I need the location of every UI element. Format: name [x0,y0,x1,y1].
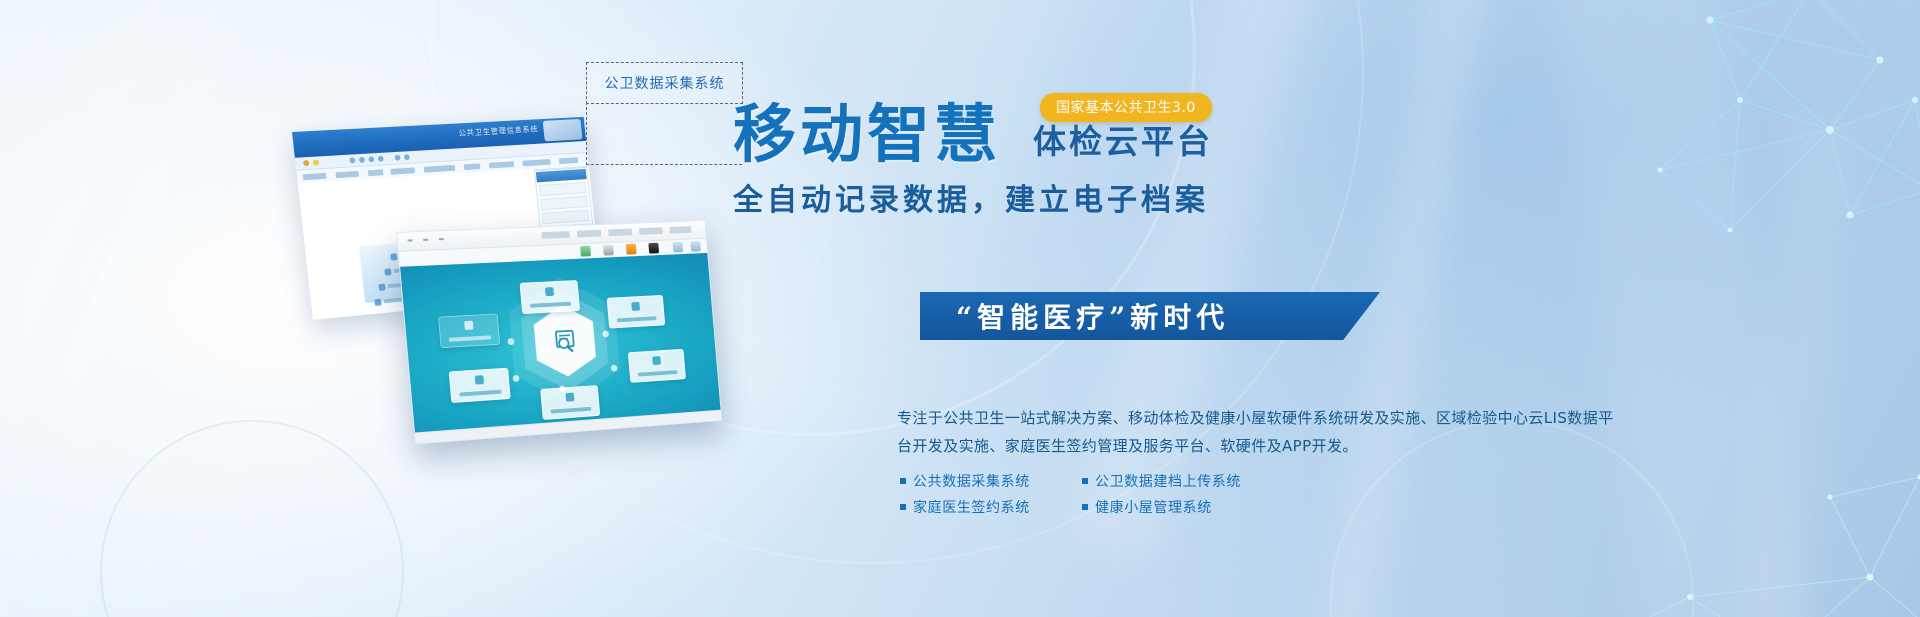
callout-box: 公卫数据采集系统 [586,62,743,104]
ribbon-banner: “智能医疗”新时代 [920,292,1380,340]
bullet-icon [1082,478,1088,484]
product-screenshots: 公共卫生管理信息系统 [270,120,740,460]
headline-block: 移动智慧 体检云平台 国家基本公共卫生3.0 全自动记录数据，建立电子档案 [733,108,1533,220]
search-document-icon [551,327,579,356]
banner-stage: 公共卫生管理信息系统 [0,0,1920,617]
bullet-icon [900,478,906,484]
headline-secondary: 体检云平台 [1033,124,1213,160]
list-item[interactable]: 公共数据采集系统 [900,468,1072,494]
callout-connector [586,102,742,165]
ribbon-label: “智能医疗”新时代 [956,292,1380,340]
dashboard-card[interactable] [520,280,581,314]
health-dashboard-screenshot[interactable] [396,220,722,444]
callout-label: 公卫数据采集系统 [605,73,725,93]
list-item-label: 公卫数据建档上传系统 [1095,471,1241,491]
dashboard-card[interactable] [438,313,500,348]
headline-tagline: 全自动记录数据，建立电子档案 [733,182,1533,220]
avatar [543,119,583,142]
feature-list: 公共数据采集系统 公卫数据建档上传系统 家庭医生签约系统 健康小屋管理系统 [900,468,1320,520]
list-item[interactable]: 公卫数据建档上传系统 [1082,468,1282,494]
dashboard-card[interactable] [540,385,600,420]
headline-primary: 移动智慧 [733,102,1001,168]
dashboard-card[interactable] [607,295,666,329]
bullet-icon [1082,504,1088,510]
list-item-label: 家庭医生签约系统 [913,497,1030,517]
central-hub[interactable] [527,303,602,378]
window-title: 公共卫生管理信息系统 [458,124,539,139]
dashboard-card[interactable] [449,368,511,403]
dashboard-canvas [400,253,720,434]
list-item-label: 健康小屋管理系统 [1095,497,1212,517]
status-badge: 国家基本公共卫生3.0 [1040,93,1212,122]
bullet-icon [900,504,906,510]
list-item[interactable]: 健康小屋管理系统 [1082,494,1282,520]
headline-row-primary: 移动智慧 体检云平台 国家基本公共卫生3.0 [733,108,1533,170]
dashboard-card[interactable] [628,349,686,383]
list-item[interactable]: 家庭医生签约系统 [900,494,1072,520]
list-item-label: 公共数据采集系统 [913,471,1030,491]
description-paragraph: 专注于公共卫生一站式解决方案、移动体检及健康小屋软硬件系统研发及实施、区域检验中… [897,404,1617,460]
